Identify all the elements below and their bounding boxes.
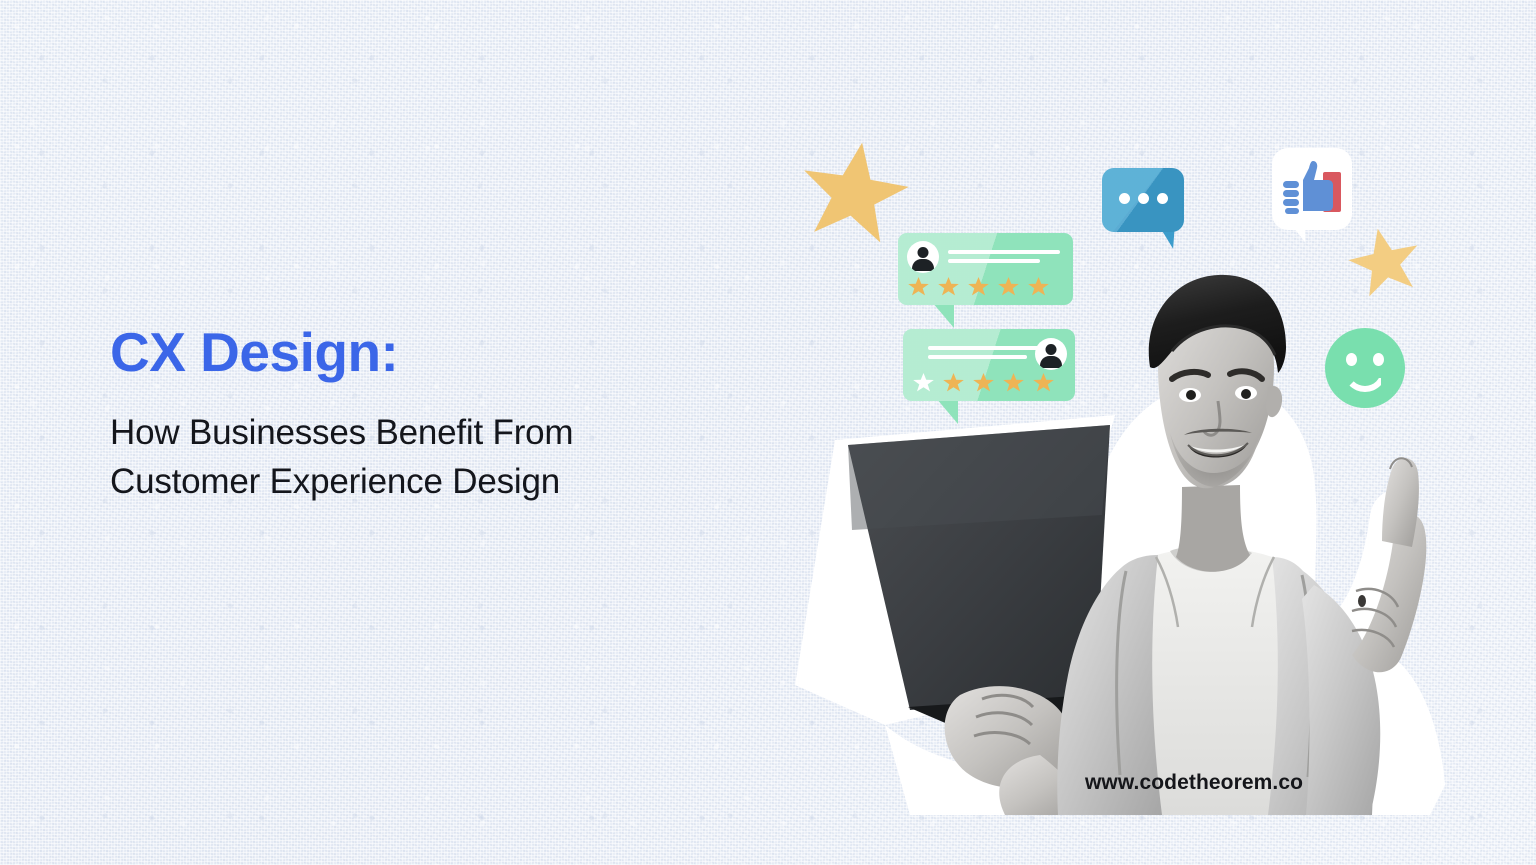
review-text-line xyxy=(928,355,1027,359)
review-card-tail xyxy=(921,302,954,328)
review-card xyxy=(898,233,1073,305)
chat-dot xyxy=(1138,193,1149,204)
review-card-tail xyxy=(925,398,958,424)
laptop xyxy=(848,425,1165,732)
star-icon xyxy=(973,373,994,393)
page-title: CX Design: xyxy=(110,324,573,382)
avatar xyxy=(907,241,939,273)
star-icon xyxy=(968,277,989,297)
thumbs-up-glyph xyxy=(1283,159,1335,217)
headline-block: CX Design: How Businesses Benefit From C… xyxy=(110,324,573,507)
star-icon xyxy=(1028,277,1049,297)
star-icon xyxy=(1003,373,1024,393)
star-icon xyxy=(938,277,959,297)
chat-dot xyxy=(1157,193,1168,204)
chat-bubble-icon xyxy=(1102,168,1184,232)
rating-stars xyxy=(908,277,1049,297)
star-icon xyxy=(998,277,1019,297)
blog-banner: CX Design: How Businesses Benefit From C… xyxy=(0,0,1536,865)
review-text-line xyxy=(948,250,1060,254)
page-subtitle: How Businesses Benefit From Customer Exp… xyxy=(110,408,573,507)
smiley-eye-left xyxy=(1346,353,1357,366)
review-text-lines xyxy=(948,250,1060,268)
chat-bubble-dots xyxy=(1102,193,1184,204)
avatar-shoulders xyxy=(912,259,934,271)
smiley-eye-right xyxy=(1373,353,1384,366)
avatar-head xyxy=(1046,344,1057,355)
holding-hand xyxy=(945,686,1095,815)
review-text-lines xyxy=(928,346,1040,364)
neck xyxy=(1176,485,1250,572)
page-subtitle-line-2: Customer Experience Design xyxy=(110,457,573,507)
head xyxy=(1149,275,1286,488)
star-icon xyxy=(1033,373,1054,393)
hair xyxy=(1149,275,1286,373)
star-icon xyxy=(943,373,964,393)
rating-stars xyxy=(913,373,1054,393)
review-text-line xyxy=(928,346,1040,350)
star-icon xyxy=(908,277,929,297)
photo-white-outline xyxy=(795,381,1445,815)
pointing-arm xyxy=(1302,458,1426,815)
chat-dot xyxy=(1119,193,1130,204)
avatar-head xyxy=(918,247,929,258)
star-icon xyxy=(913,373,934,393)
review-text-line xyxy=(948,259,1040,263)
page-subtitle-line-1: How Businesses Benefit From xyxy=(110,408,573,458)
star-icon xyxy=(1343,221,1428,304)
avatar-shoulders xyxy=(1040,356,1062,368)
site-url[interactable]: www.codetheorem.co xyxy=(1085,771,1303,795)
thumbs-up-icon xyxy=(1272,148,1352,230)
review-card xyxy=(903,329,1075,401)
smiley-face-icon xyxy=(1325,328,1405,408)
